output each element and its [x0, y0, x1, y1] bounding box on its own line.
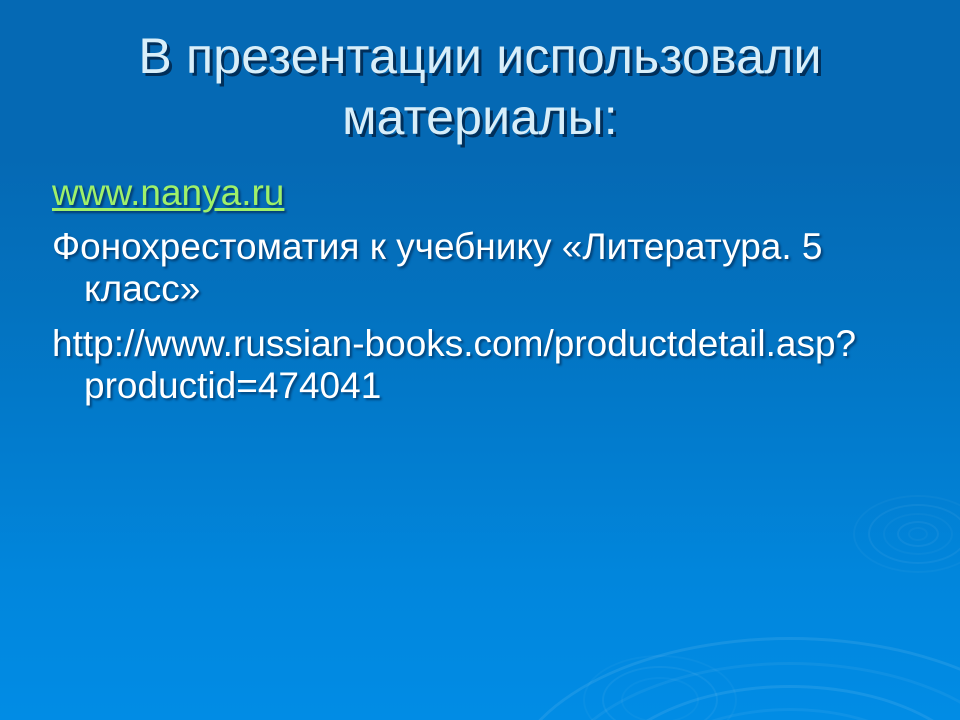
source-link-nanya[interactable]: www.nanya.ru — [52, 172, 284, 213]
slide-title-line-2: материалы: — [0, 87, 960, 148]
list-item: Фонохрестоматия к учебнику «Литература. … — [52, 226, 932, 310]
list-item: http://www.russian-books.com/productdeta… — [52, 323, 932, 407]
slide-title: В презентации использовали материалы: — [0, 26, 960, 148]
list-item: www.nanya.ru — [52, 172, 932, 214]
slide-title-line-1: В презентации использовали — [0, 26, 960, 87]
slide-body: www.nanya.ru Фонохрестоматия к учебнику … — [52, 172, 932, 407]
presentation-slide: В презентации использовали материалы: ww… — [0, 0, 960, 720]
